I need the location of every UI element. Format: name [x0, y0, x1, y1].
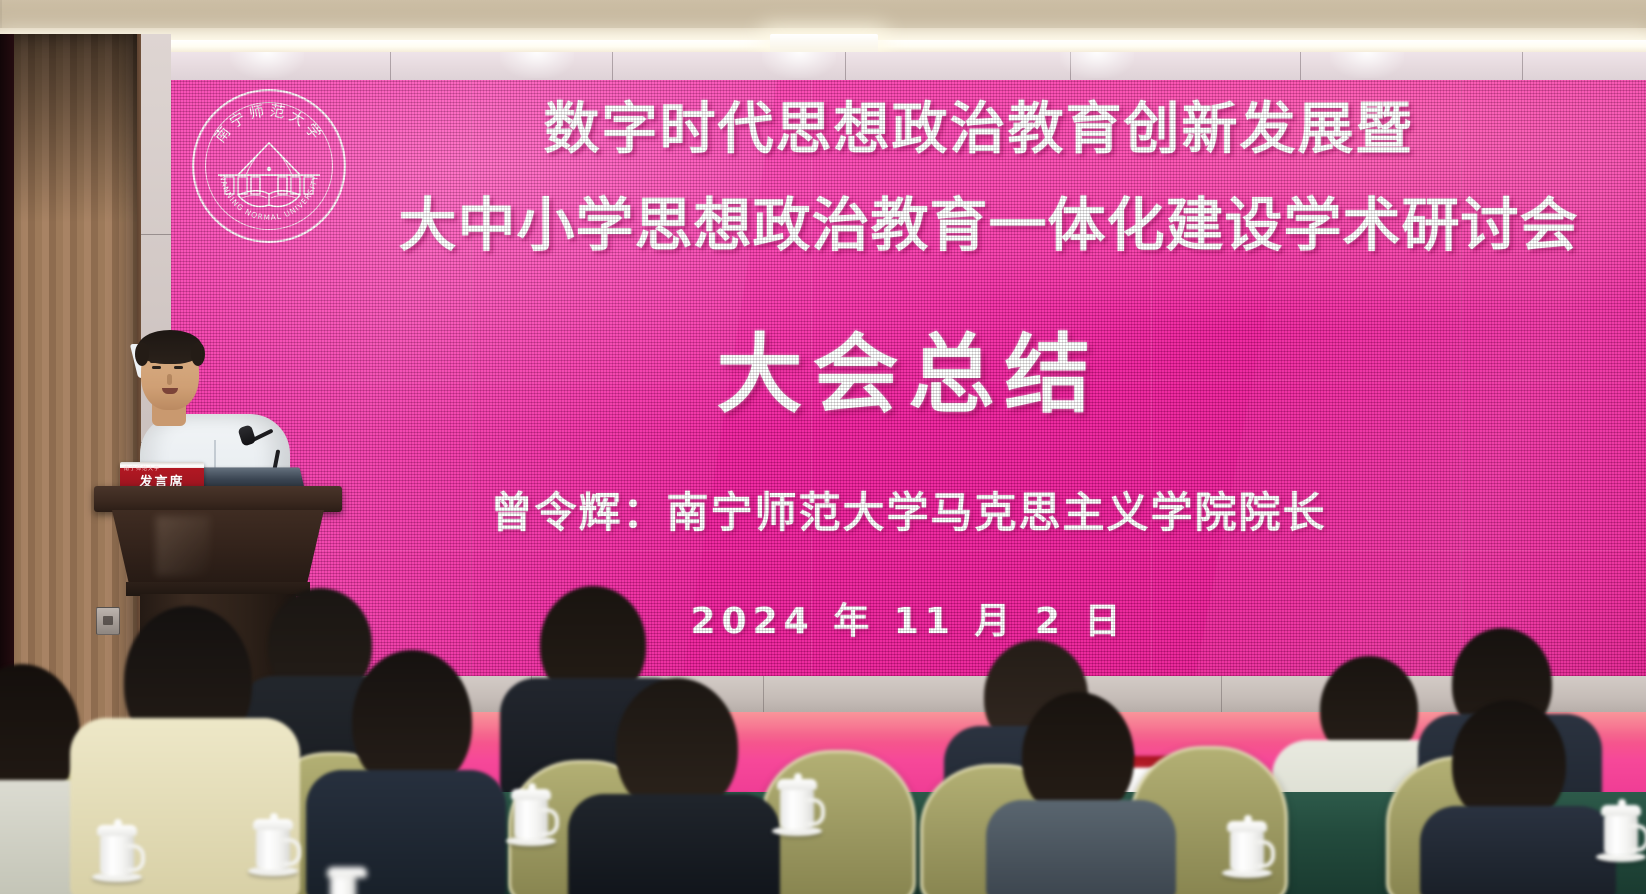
speaker-hair [138, 330, 202, 364]
downlight [1060, 52, 1134, 78]
conference-photo: 南宁师范大学 NANNING NORMAL UNIVERSITY [0, 0, 1646, 894]
speaker-brow-right [173, 360, 185, 363]
podium-highlight [156, 516, 210, 576]
speaker-eye-left [152, 366, 161, 369]
cup-lid [327, 867, 367, 878]
tea-cup [1230, 830, 1264, 872]
tea-cup [256, 828, 290, 870]
audience-torso-front [986, 800, 1176, 894]
audience-torso-front [568, 794, 780, 894]
downlight [762, 52, 836, 78]
date-line: 2024 年 11 月 2 日 [171, 604, 1646, 640]
cup-knob [1244, 815, 1252, 823]
headline: 大会总结 [171, 332, 1646, 418]
led-screen: 南宁师范大学 NANNING NORMAL UNIVERSITY [171, 80, 1646, 676]
downlight [230, 52, 304, 78]
cup-knob [528, 783, 536, 791]
podium-nameplate: 南宁师范大学 发言席 [120, 462, 204, 488]
downlight [500, 52, 574, 78]
podium-front-panel [112, 510, 324, 584]
tea-cup [514, 798, 548, 840]
tea-cup [1604, 814, 1638, 856]
title-line-2: 大中小学思想政治教育一体化建设学术研讨会 [171, 196, 1646, 254]
speaker-eye-right [174, 366, 183, 369]
speaker-credit-line: 曾令辉：南宁师范大学马克思主义学院院长 [171, 492, 1646, 534]
screen-text-block: 数字时代思想政治教育创新发展暨 大中小学思想政治教育一体化建设学术研讨会 大会总… [171, 80, 1646, 676]
tea-cup [330, 876, 356, 894]
cup-knob [114, 819, 122, 827]
cup-knob [794, 773, 802, 781]
tea-cup [100, 834, 134, 876]
audience-torso-front [1420, 806, 1616, 894]
title-line-1: 数字时代思想政治教育创新发展暨 [171, 102, 1646, 158]
speaker-nose [167, 374, 172, 385]
cup-handle [1631, 824, 1646, 852]
cup-knob [270, 813, 278, 821]
tea-cup [780, 788, 814, 830]
podium-top-surface [94, 486, 342, 512]
downlight [1330, 52, 1404, 78]
cup-knob [1618, 799, 1626, 807]
speaker-brow-left [150, 360, 162, 363]
